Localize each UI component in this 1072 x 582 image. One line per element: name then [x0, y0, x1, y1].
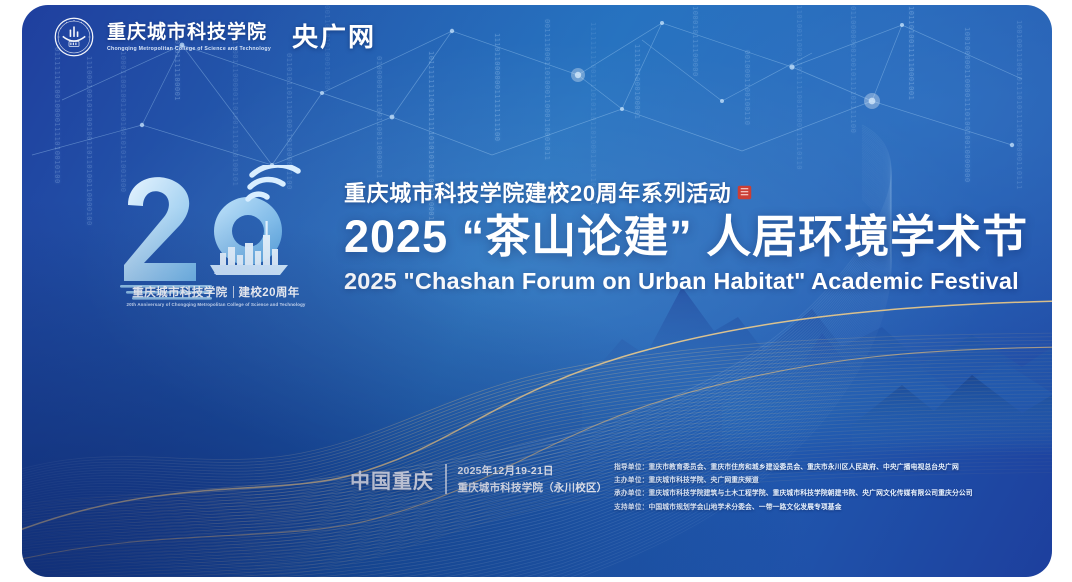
eyebrow-row: 重庆城市科技学院建校20周年系列活动	[344, 177, 1044, 207]
anniversary-band: 重庆城市科技学院 建校20周年 20th Anniversary of Chon…	[118, 283, 314, 307]
anniversary-years: 2005-2025	[214, 265, 277, 277]
event-date: 2025年12月19-21日	[458, 463, 608, 478]
organizer-line: 支持单位：中国城市规划学会山地学术分委会、一带一路文化发展专项基金	[614, 501, 973, 511]
university-name-en: Chongqing Metropolitan College of Scienc…	[107, 46, 271, 52]
date-venue-block: 2025年12月19-21日 重庆城市科技学院（永川校区）	[458, 463, 608, 495]
organizer-line: 承办单位：重庆城市科技学院建筑与土木工程学院、重庆城市科技学院朝建书院、央广网文…	[614, 487, 973, 497]
eyebrow-text: 重庆城市科技学院建校20周年系列活动	[344, 176, 731, 208]
sub-title-en: 2025 "Chashan Forum on Urban Habitat" Ac…	[344, 268, 1044, 295]
event-venue: 重庆城市科技学院（永川校区）	[458, 480, 608, 495]
anniversary-band-divider	[233, 286, 234, 298]
anniversary-band-left: 重庆城市科技学院	[132, 284, 227, 300]
university-seal-icon	[54, 17, 94, 57]
anniversary-band-en: 20th Anniversary of Chongqing Metropolit…	[118, 302, 314, 307]
anniversary-band-right: 建校20周年	[239, 284, 300, 300]
main-title: 2025 “茶山论建” 人居环境学术节	[344, 213, 1044, 261]
organizer-line: 指导单位：重庆市教育委员会、重庆市住房和城乡建设委员会、重庆市永川区人民政府、中…	[614, 461, 973, 471]
footer-location-block: 中国重庆 2025年12月19-21日 重庆城市科技学院（永川校区）	[350, 463, 607, 495]
footer-divider	[445, 464, 447, 494]
university-wordmark: 重庆城市科技学院 Chongqing Metropolitan College …	[107, 22, 271, 52]
title-block: 重庆城市科技学院建校20周年系列活动 2025 “茶山论建” 人居环境学术节 2…	[344, 177, 1044, 295]
red-seal-stamp-icon	[737, 185, 752, 200]
organizer-line: 主办单位：重庆城市科技学院、央广网重庆频道	[614, 474, 973, 484]
anniversary-emblem: 2005-2025 重庆城市科技学院 建校20周年 20th Anniversa…	[110, 165, 320, 315]
masthead: 重庆城市科技学院 Chongqing Metropolitan College …	[54, 17, 376, 57]
university-name-cn: 重庆城市科技学院	[107, 22, 271, 44]
city-label: 中国重庆	[350, 465, 434, 494]
event-poster: 0111111010010000111101001010011100010010…	[22, 5, 1052, 577]
screenshot-root: 0111111010010000111101001010011100010010…	[0, 0, 1072, 582]
organizers-block: 指导单位：重庆市教育委员会、重庆市住房和城乡建设委员会、重庆市永川区人民政府、中…	[614, 461, 973, 511]
partner-logo-cnr: 央广网	[292, 24, 376, 50]
